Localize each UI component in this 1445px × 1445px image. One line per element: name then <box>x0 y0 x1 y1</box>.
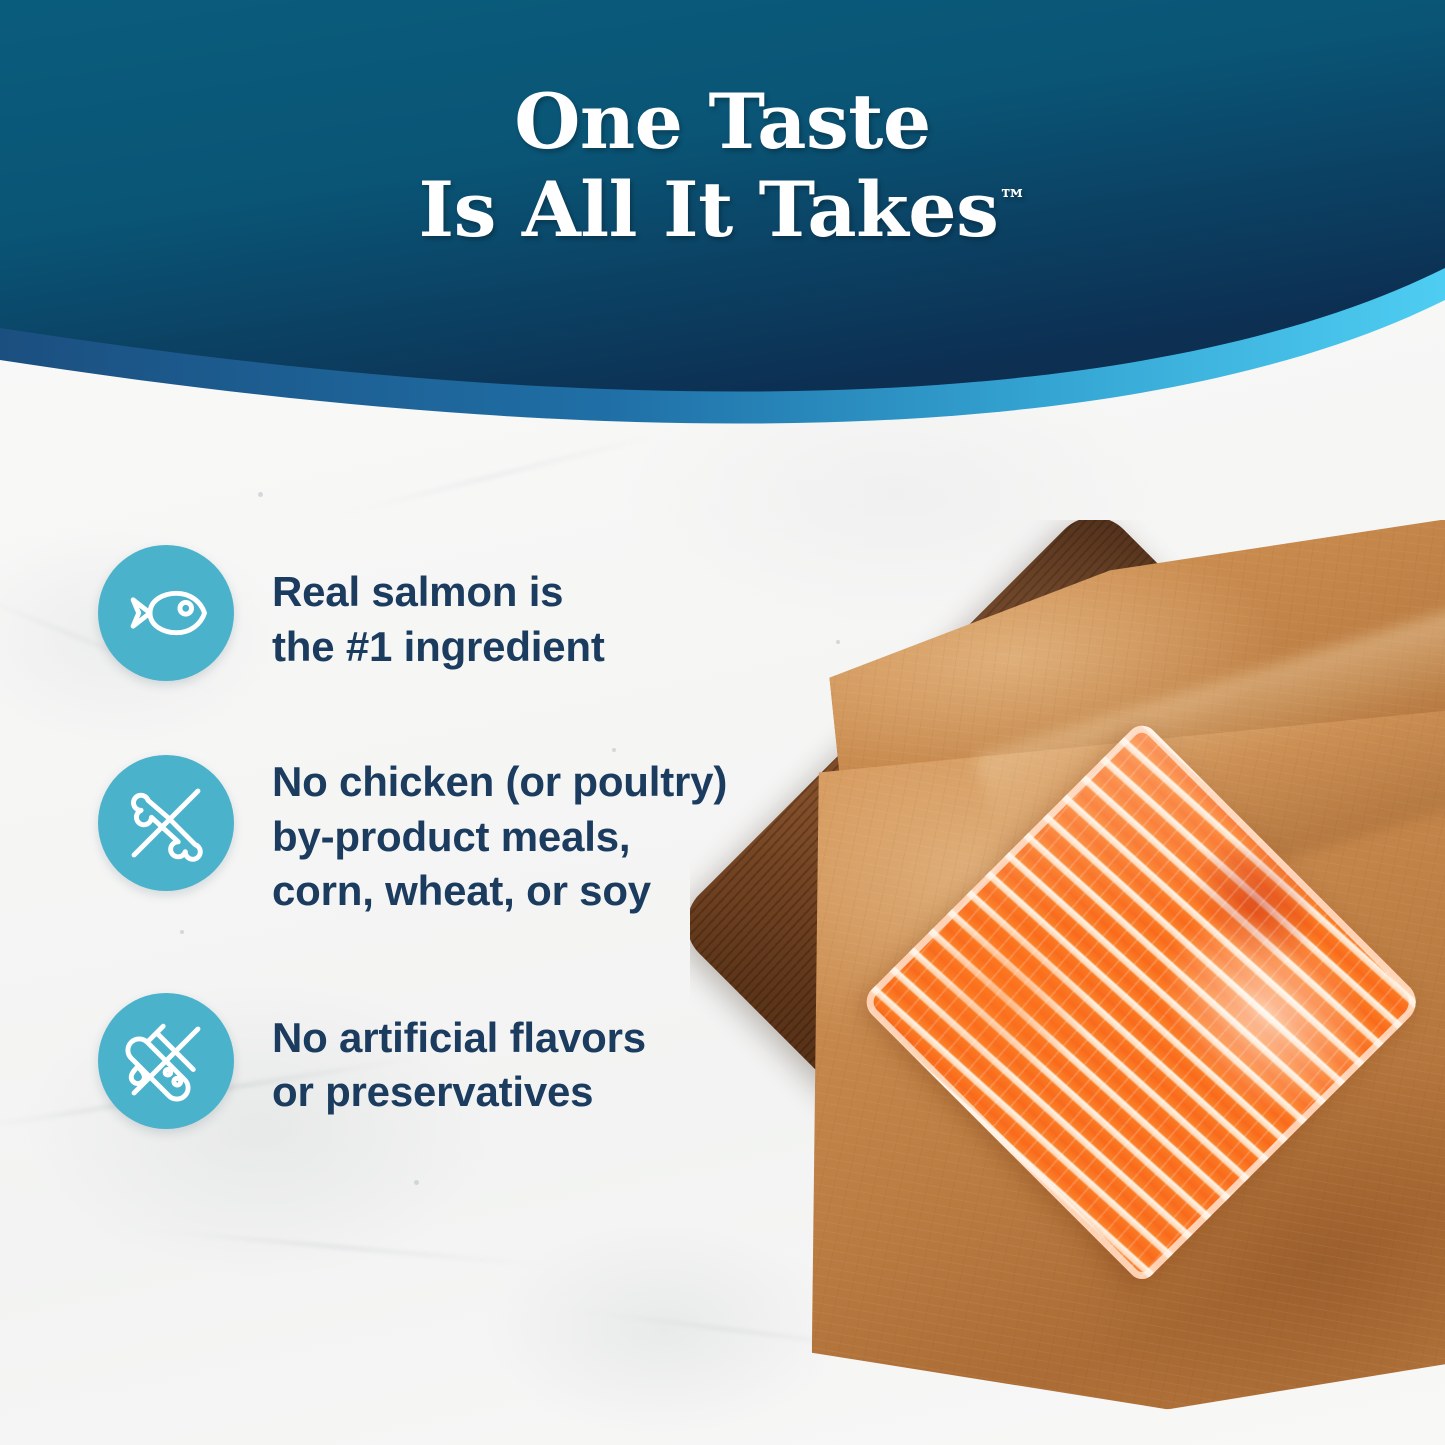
headline-line-2: Is All It Takes <box>419 165 999 254</box>
list-item: No artificial flavors or preservatives <box>98 993 858 1129</box>
fish-icon <box>119 566 213 660</box>
marble-speck <box>414 1180 419 1185</box>
no-bone-icon <box>119 776 213 870</box>
page-title: One Taste Is All It Takes™ <box>0 78 1445 254</box>
bullet-badge <box>98 545 234 681</box>
list-item-label: No chicken (or poultry) by-product meals… <box>272 755 727 919</box>
bullet-badge <box>98 993 234 1129</box>
trademark-symbol: ™ <box>998 184 1026 217</box>
marble-speck <box>258 492 263 497</box>
headline-line-2-wrap: Is All It Takes™ <box>0 166 1445 254</box>
list-item-label: Real salmon is the #1 ingredient <box>272 545 605 674</box>
feature-list: Real salmon is the #1 ingredient No chic… <box>98 545 858 1129</box>
list-item: No chicken (or poultry) by-product meals… <box>98 755 858 919</box>
no-test-tube-icon <box>119 1014 213 1108</box>
header-banner: One Taste Is All It Takes™ <box>0 0 1445 430</box>
promo-image: One Taste Is All It Takes™ Real salmon i… <box>0 0 1445 1445</box>
bullet-badge <box>98 755 234 891</box>
list-item: Real salmon is the #1 ingredient <box>98 545 858 681</box>
headline-line-1: One Taste <box>514 77 931 166</box>
list-item-label: No artificial flavors or preservatives <box>272 993 646 1120</box>
